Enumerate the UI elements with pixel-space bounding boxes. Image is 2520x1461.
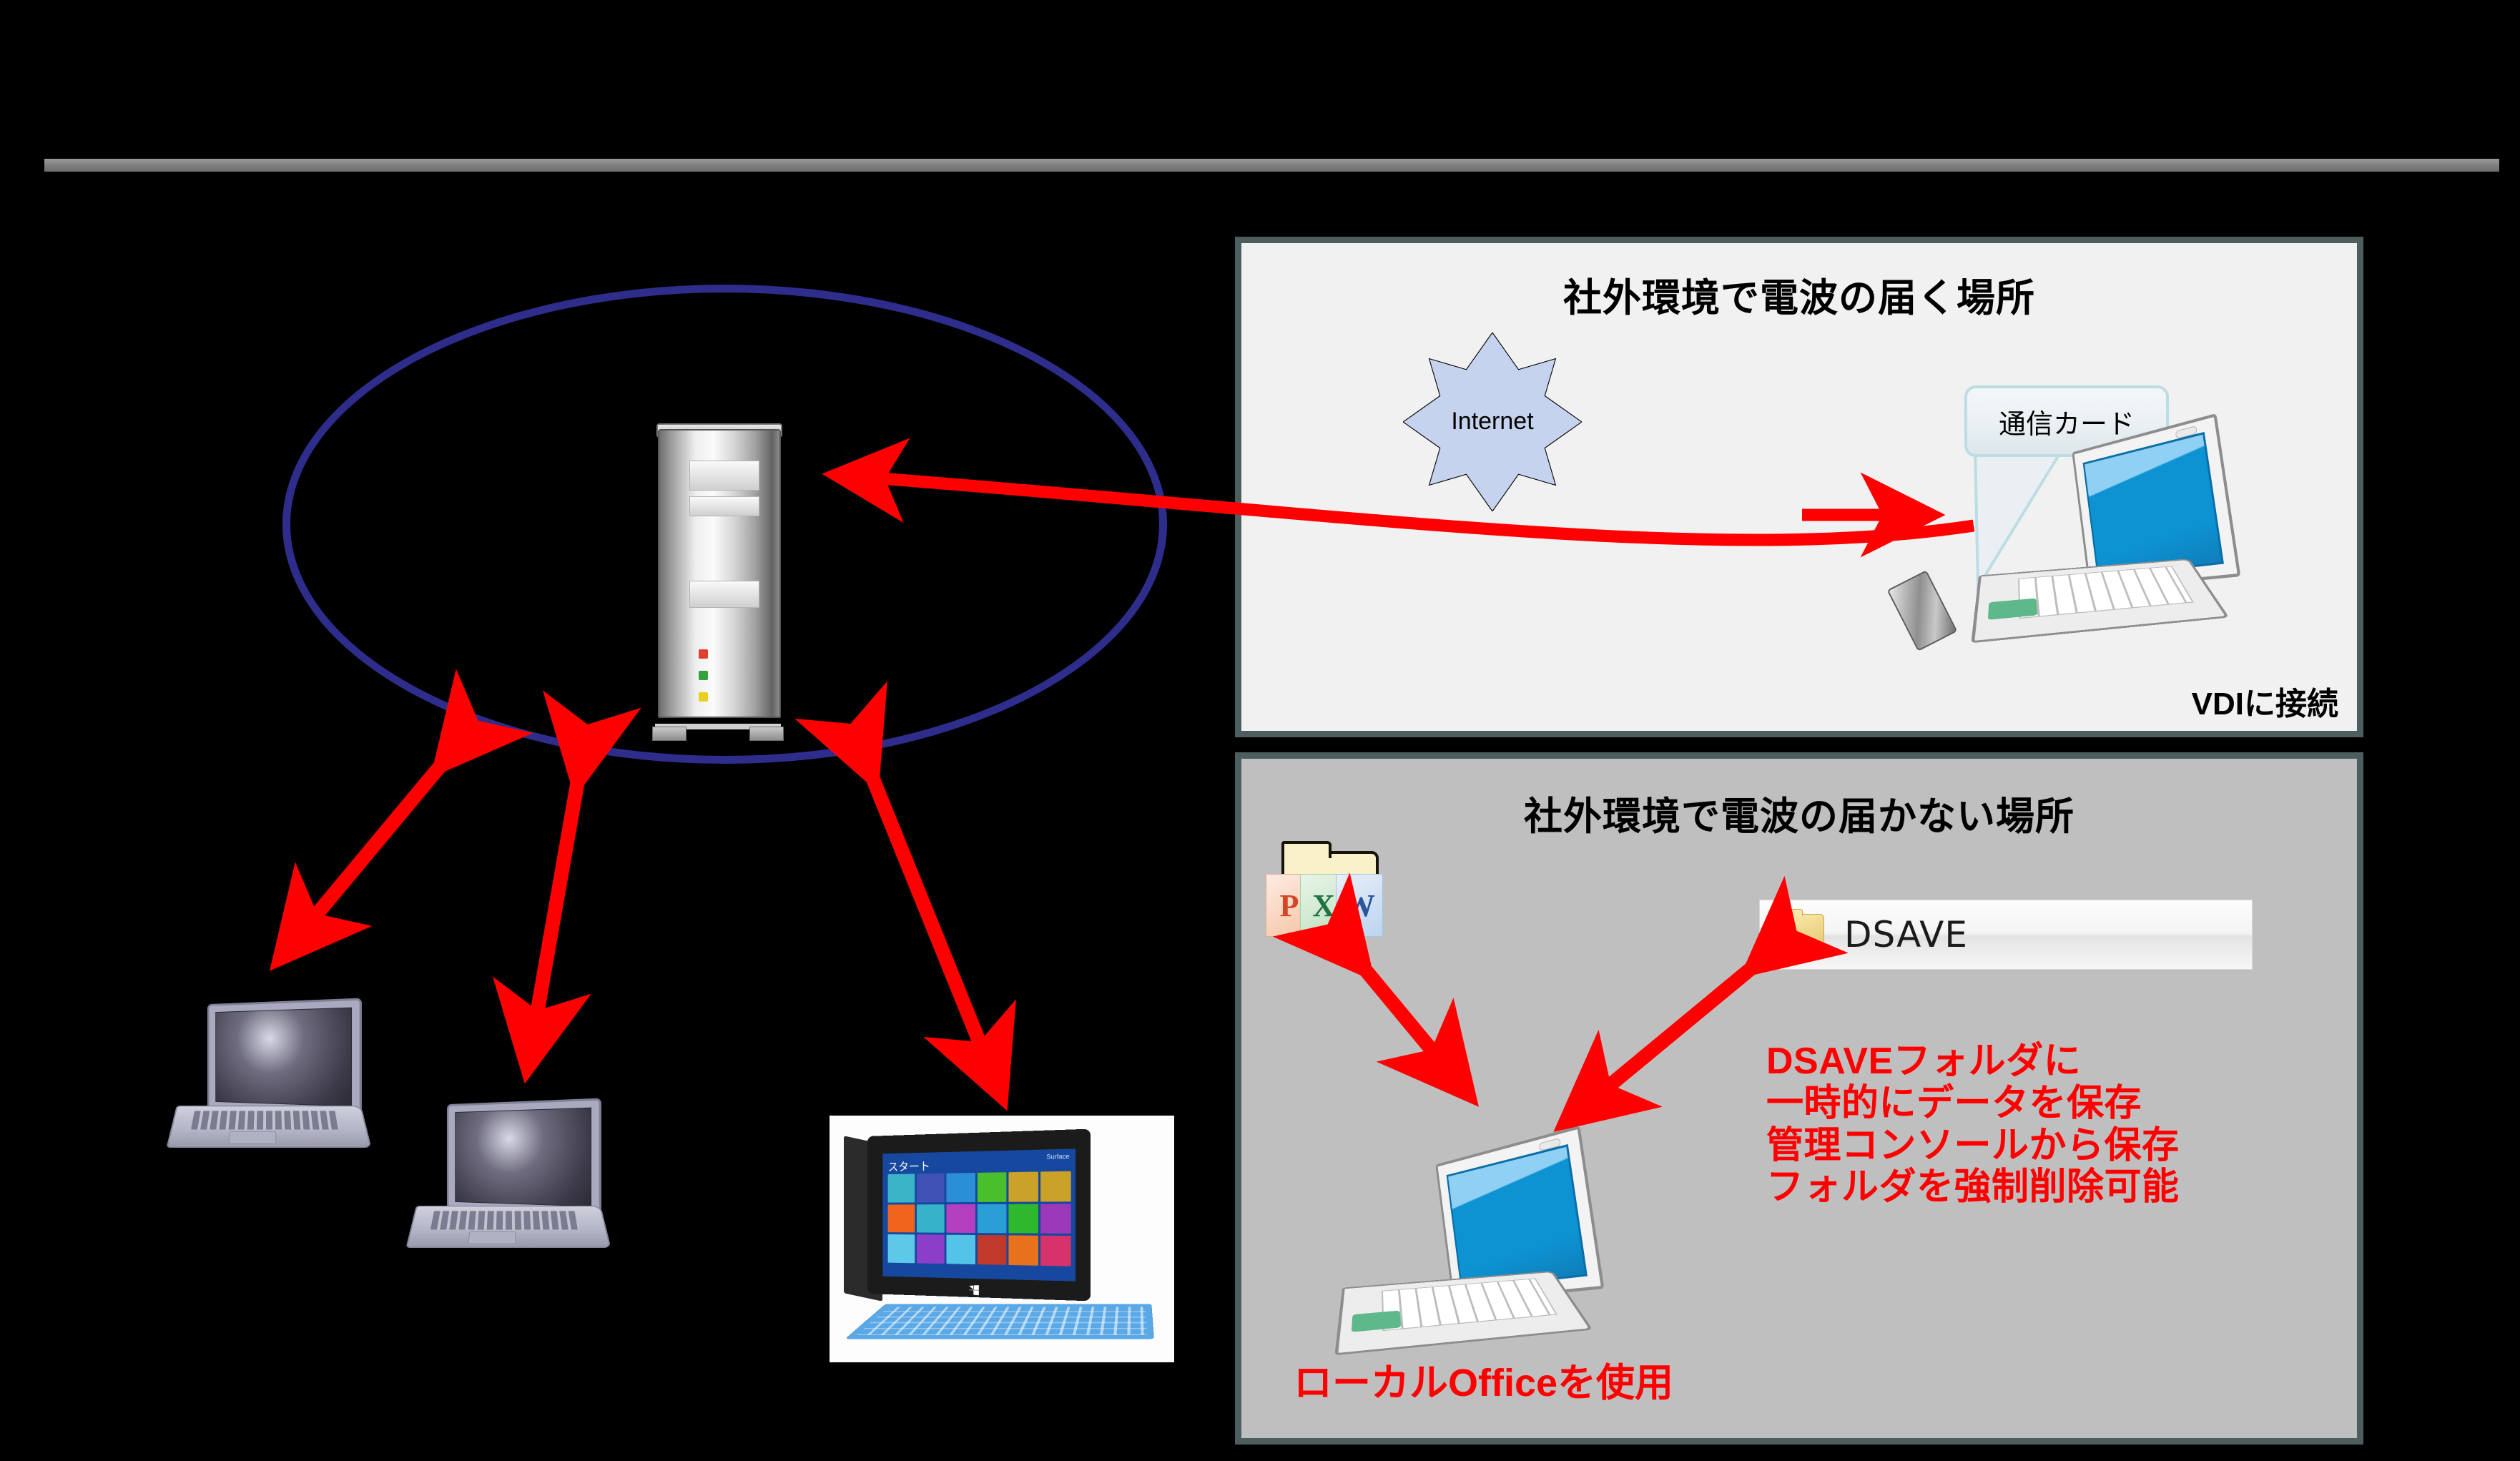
header-divider-bar [44,159,2499,172]
tablet-start-label: スタート [888,1156,930,1174]
tablet-tile [1008,1204,1038,1234]
laptop-screen [215,1008,352,1107]
tablet-screen: スタート Surface [882,1148,1076,1281]
tablet-tile [1040,1236,1071,1266]
tablet-tile [947,1204,975,1234]
local-office-note: ローカルOfficeを使用 [1294,1351,1673,1407]
server-tower [644,429,792,729]
offline-laptop [1342,1145,1592,1352]
dsave-label: DSAVE [1844,914,1968,955]
tablet-tile [917,1235,945,1264]
internet-label: Internet [1403,408,1582,436]
panel-with-signal: 社外環境で電波の届く場所 Internet 通信カード [1235,237,2363,737]
arrow-server-laptop-1 [286,758,447,951]
server-foot [652,727,686,741]
laptop-keyboard [2018,566,2194,619]
mobile-laptop [1978,433,2228,640]
laptop-base [166,1106,371,1148]
client-laptop-1 [172,1001,365,1155]
dsave-note-line: 管理コンソールから保存 [1766,1125,2180,1167]
laptop-lid [447,1098,601,1216]
laptop-screen [2083,432,2224,578]
tablet-tile [947,1173,975,1202]
arrow-server-laptop-2 [529,772,579,1058]
tablet-tile [1008,1236,1038,1266]
server-drive-bay [689,581,759,608]
server-foot [749,727,784,741]
tablet-tile [1040,1171,1071,1201]
laptop-lid [207,998,362,1116]
tablet-tile [947,1235,975,1264]
panel-with-signal-title: 社外環境で電波の届く場所 [1241,266,2357,323]
server-led-green [699,671,708,680]
laptop-screen [455,1108,591,1207]
tablet-start-tiles [888,1171,1071,1266]
laptop-keyboard [430,1211,579,1229]
slide-canvas: スタート Surface 社外環境で電波の届く場所 Internet 通信カード [0,0,2520,1461]
panel-no-signal-title: 社外環境で電波の届かない場所 [1241,784,2357,841]
tablet-tile [917,1204,945,1233]
client-surface-tablet: スタート Surface [830,1116,1174,1362]
tablet-tile [977,1204,1006,1233]
dsave-folder-shortcut[interactable]: ↗ DSAVE [1759,900,2253,970]
tablet-body: スタート Surface [867,1129,1091,1302]
dsave-notes: DSAVEフォルダに 一時的にデータを保存 管理コンソールから保存 フォルダを強… [1766,1041,2180,1209]
tablet-tile [888,1174,915,1202]
tablet-user-label: Surface [1046,1153,1069,1161]
server-led-yellow [699,692,708,702]
word-icon: W [1336,874,1383,937]
dsave-note-line: DSAVEフォルダに [1766,1041,2180,1083]
tablet-touch-cover-keyboard [845,1304,1154,1339]
server-chassis [658,429,781,718]
laptop-base [1334,1271,1593,1355]
tablet-tile [977,1172,1006,1201]
client-laptop-2 [411,1101,604,1255]
laptop-base [405,1206,611,1248]
laptop-keyboard [191,1111,340,1129]
tablet-tile [917,1174,945,1202]
tablet-tile [888,1234,915,1263]
server-drive-bay [689,496,759,516]
laptop-screen [1447,1144,1588,1290]
tablet-tile [1008,1171,1038,1201]
laptop-touchpad [229,1131,277,1143]
tablet-tile [1040,1204,1071,1234]
laptop-keyboard [1382,1278,1557,1331]
windows-logo-icon [969,1285,979,1295]
shortcut-arrow-icon: ↗ [1780,934,1801,955]
server-led-red [699,649,708,659]
laptop-base [1971,559,2229,643]
dsave-note-line: フォルダを強制削除可能 [1766,1166,2180,1209]
server-drive-bay [689,461,759,491]
dsave-note-line: 一時的にデータを保存 [1766,1083,2180,1125]
usb-communication-card-icon [1887,570,1958,651]
office-documents-folder: P X W [1266,851,1402,944]
arrow-server-tablet [869,769,998,1087]
vdi-connect-label: VDIに接続 [2192,678,2338,724]
tablet-tile [888,1204,915,1233]
tablet-tile [977,1235,1006,1265]
laptop-touchpad [468,1231,516,1244]
folder-shortcut-icon: ↗ [1780,914,1826,955]
